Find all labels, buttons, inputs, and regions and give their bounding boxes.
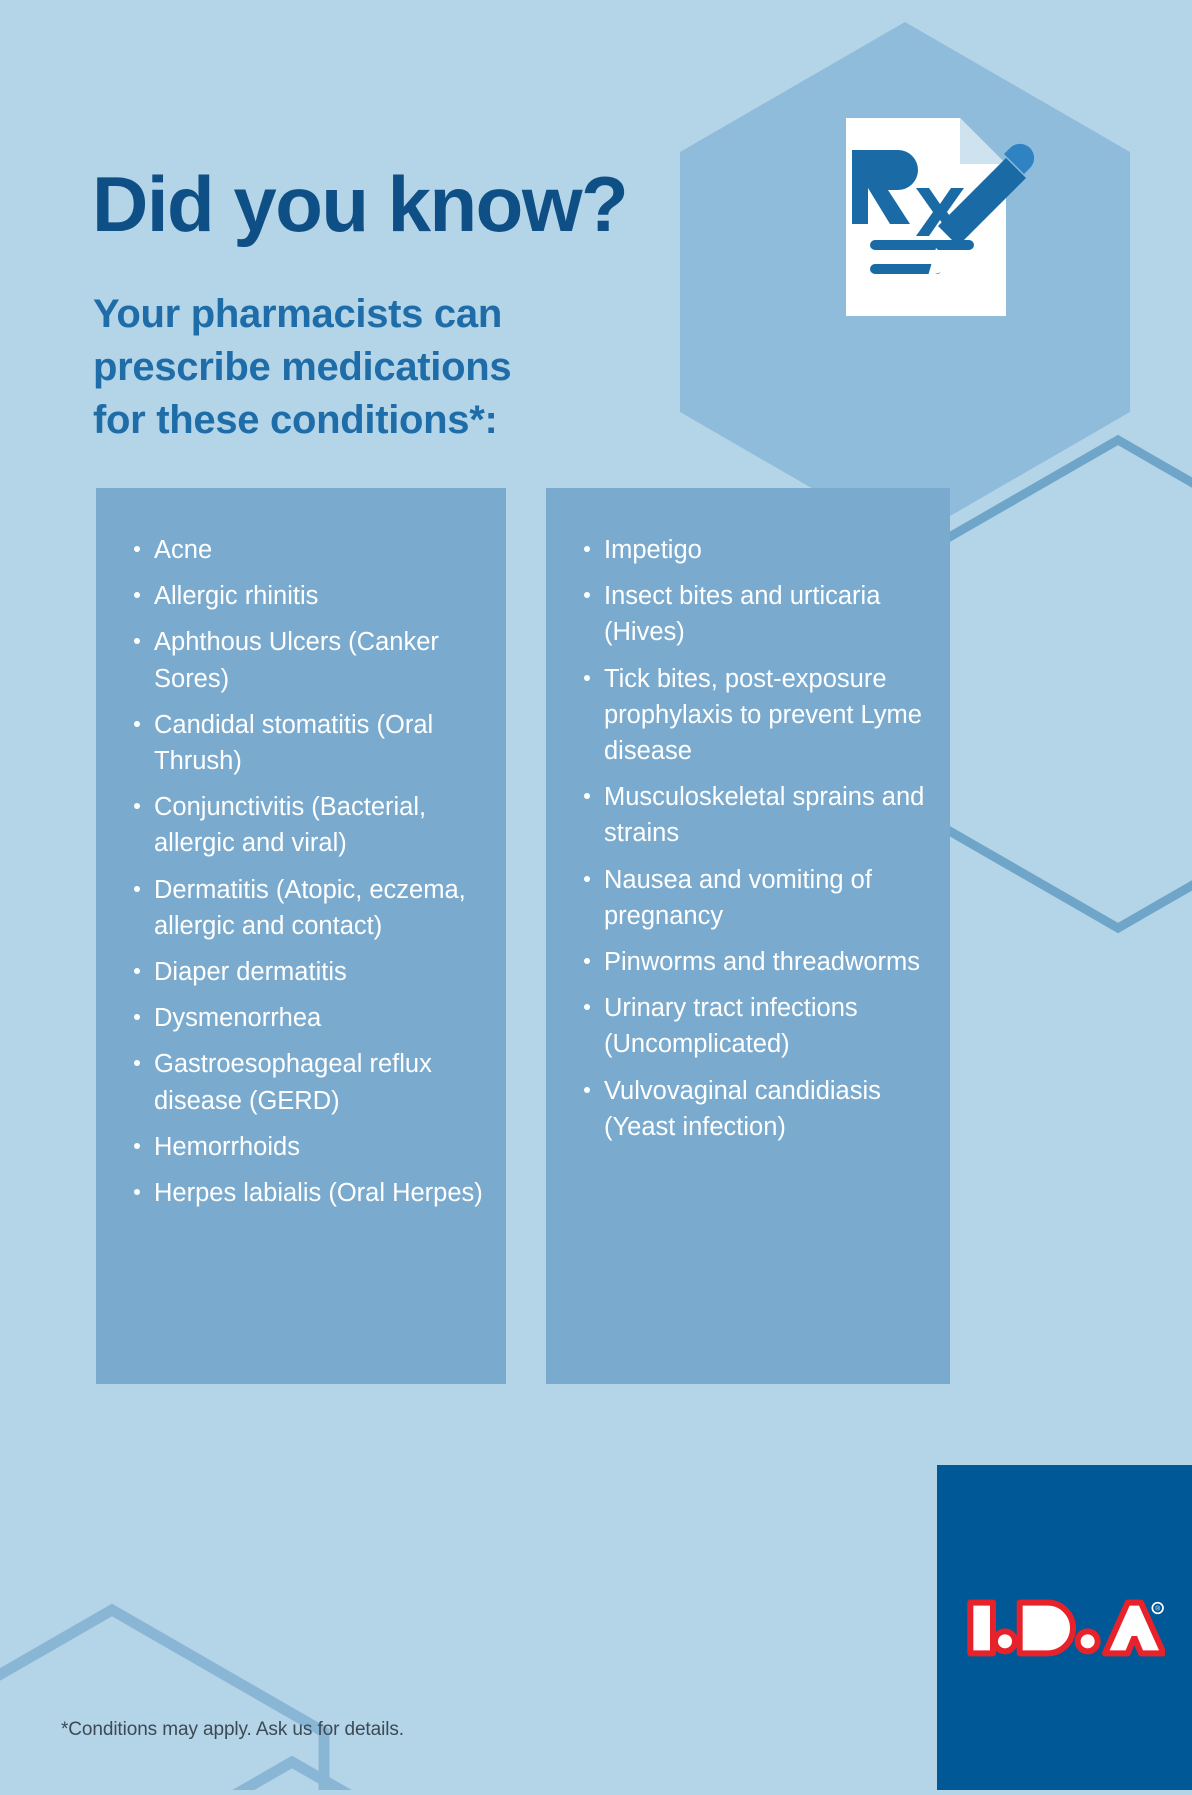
ida-logo-block: I·D·A ® <box>937 1465 1192 1790</box>
list-item: Allergic rhinitis <box>132 578 488 614</box>
page-subtitle: Your pharmacists can prescribe medicatio… <box>93 288 511 448</box>
list-item: Tick bites, post-exposure prophylaxis to… <box>582 661 932 770</box>
footnote-text: *Conditions may apply. Ask us for detail… <box>61 1719 404 1741</box>
subtitle-line-1: Your pharmacists can <box>93 288 511 341</box>
list-item: Aphthous Ulcers (Canker Sores) <box>132 624 488 696</box>
list-item: Impetigo <box>582 532 932 568</box>
conditions-panels: AcneAllergic rhinitisAphthous Ulcers (Ca… <box>96 488 1096 1384</box>
ida-logo-icon: ® <box>965 1593 1165 1663</box>
list-item: Dysmenorrhea <box>132 1000 488 1036</box>
list-item: Urinary tract infections (Uncomplicated) <box>582 990 932 1062</box>
list-item: Dermatitis (Atopic, eczema, allergic and… <box>132 872 488 944</box>
subtitle-line-2: prescribe medications <box>93 341 511 394</box>
conditions-list-left: AcneAllergic rhinitisAphthous Ulcers (Ca… <box>96 488 506 1211</box>
rx-prescription-icon <box>810 100 1050 340</box>
list-item: Conjunctivitis (Bacterial, allergic and … <box>132 789 488 861</box>
list-item: Gastroesophageal reflux disease (GERD) <box>132 1046 488 1118</box>
conditions-list-right: ImpetigoInsect bites and urticaria (Hive… <box>546 488 950 1145</box>
list-item: Vulvovaginal candidiasis (Yeast infectio… <box>582 1073 932 1145</box>
hexagon-icon <box>0 1610 324 1790</box>
list-item: Acne <box>132 532 488 568</box>
conditions-panel-right: ImpetigoInsect bites and urticaria (Hive… <box>546 488 950 1384</box>
page-title: Did you know? <box>92 165 627 243</box>
list-item: Diaper dermatitis <box>132 954 488 990</box>
list-item: Musculoskeletal sprains and strains <box>582 779 932 851</box>
subtitle-line-3: for these conditions*: <box>93 394 511 447</box>
list-item: Candidal stomatitis (Oral Thrush) <box>132 707 488 779</box>
list-item: Nausea and vomiting of pregnancy <box>582 862 932 934</box>
conditions-panel-left: AcneAllergic rhinitisAphthous Ulcers (Ca… <box>96 488 506 1384</box>
list-item: Hemorrhoids <box>132 1129 488 1165</box>
list-item: Pinworms and threadworms <box>582 944 932 980</box>
list-item: Insect bites and urticaria (Hives) <box>582 578 932 650</box>
hexagon-icon <box>80 1762 504 1790</box>
list-item: Herpes labialis (Oral Herpes) <box>132 1175 488 1211</box>
registered-mark: ® <box>1155 1604 1160 1612</box>
